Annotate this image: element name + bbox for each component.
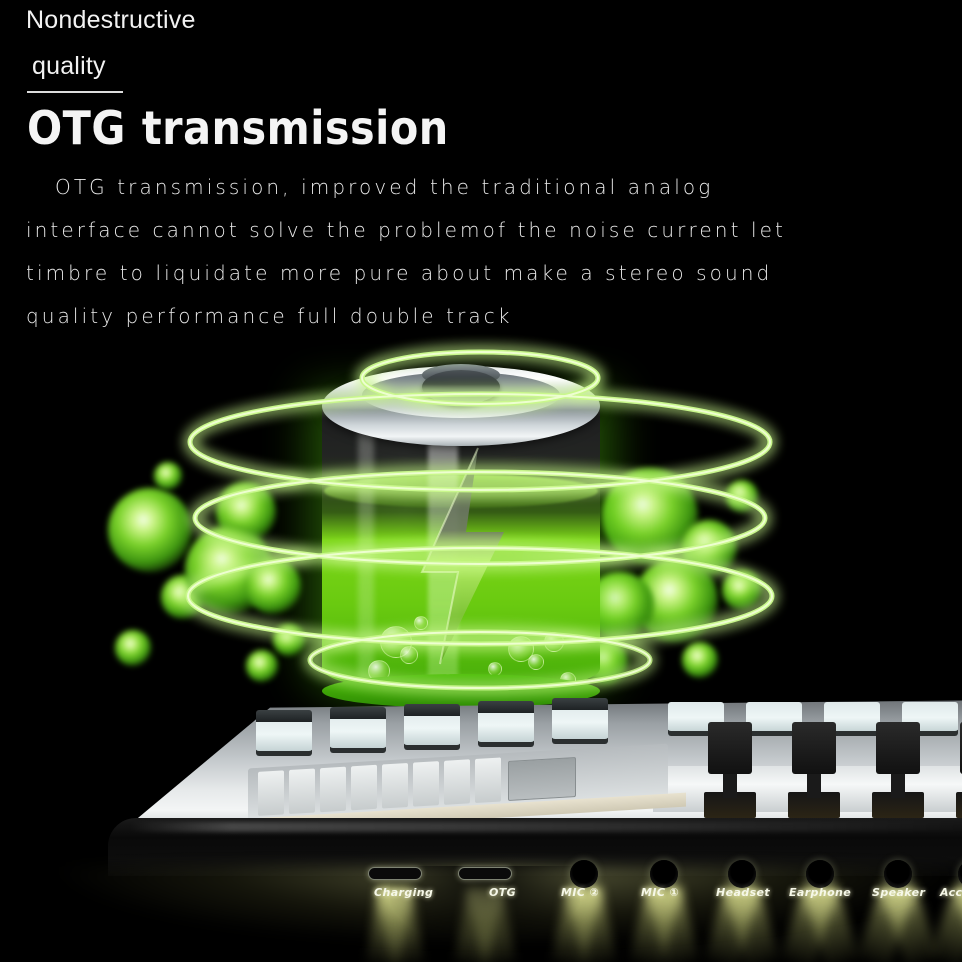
fader-knob[interactable]: [876, 722, 920, 774]
port-headset[interactable]: [728, 860, 756, 888]
fader-stem: [807, 772, 821, 798]
bokeh-dot: [245, 558, 301, 614]
device-key-cap: [330, 707, 386, 719]
device-key[interactable]: [478, 707, 534, 747]
port-label: Headset: [716, 886, 770, 899]
bokeh-dot: [681, 520, 737, 576]
port-label: Speaker: [872, 886, 925, 899]
device-slider-slot[interactable]: [258, 770, 284, 816]
bokeh-dot: [634, 558, 718, 642]
description-line-2: interface cannot solve the problemof the…: [26, 218, 786, 242]
device-key-cap: [256, 710, 312, 722]
description-line-4: quality performance full double track: [26, 304, 513, 328]
device-key-cap: [552, 698, 608, 710]
fader-base: [956, 792, 962, 818]
bokeh-dot: [161, 575, 205, 619]
promo-banner: Nondestructive quality OTGtransmission O…: [0, 0, 962, 962]
kicker-line-2: quality: [32, 52, 106, 81]
device-slider-slot[interactable]: [475, 757, 501, 803]
fader-knob[interactable]: [708, 722, 752, 774]
port-speaker[interactable]: [884, 860, 912, 888]
bokeh-dot: [246, 650, 278, 682]
battery-terminal-nub: [422, 370, 500, 404]
port-label: MIC ②: [561, 886, 599, 899]
bokeh-dot: [115, 630, 151, 666]
fader-stem: [891, 772, 905, 798]
page-title: OTGtransmission: [27, 101, 449, 155]
device-key-cap: [404, 704, 460, 716]
device-slider-slot[interactable]: [320, 767, 346, 813]
headline-word-otg: OTG: [27, 101, 126, 155]
kicker-underline: [27, 91, 123, 93]
fluid-bubble: [544, 632, 564, 652]
kicker-line-1: Nondestructive: [26, 6, 196, 35]
device-key[interactable]: [256, 716, 312, 756]
fader-knob[interactable]: [792, 722, 836, 774]
lightning-bolt-icon: [406, 446, 516, 666]
battery-charging-illustration: [296, 352, 626, 712]
device-key[interactable]: [330, 713, 386, 753]
fader-stem: [723, 772, 737, 798]
device-key[interactable]: [552, 704, 608, 744]
bokeh-dot: [722, 570, 762, 610]
device-slider-slot[interactable]: [351, 765, 377, 811]
bokeh-dot: [185, 526, 273, 614]
bokeh-dot: [682, 642, 718, 678]
port-label: Accor: [940, 886, 962, 899]
device-key[interactable]: [404, 710, 460, 750]
floor-shadow-center: [390, 866, 580, 962]
port-mic[interactable]: [650, 860, 678, 888]
description-line-3: timbre to liquidate more pure about make…: [26, 261, 772, 285]
bokeh-dot: [108, 488, 192, 572]
bokeh-dot: [216, 482, 276, 542]
port-label: MIC ①: [641, 886, 679, 899]
device-slider-slot[interactable]: [382, 763, 408, 809]
device-slider-slot[interactable]: [413, 761, 439, 807]
device-front-gloss: [128, 822, 962, 832]
port-label: Charging: [374, 886, 433, 899]
headline-word-transmission: transmission: [142, 101, 449, 155]
device-display: [508, 757, 576, 801]
port-earphone[interactable]: [806, 860, 834, 888]
port-label: Earphone: [789, 886, 851, 899]
port-mic[interactable]: [570, 860, 598, 888]
battery-highlight-stripe-secondary: [358, 408, 374, 694]
port-charging[interactable]: [368, 867, 422, 880]
bokeh-dot: [726, 480, 758, 512]
device-slider-slot[interactable]: [444, 759, 470, 805]
port-label: OTG: [489, 886, 516, 899]
live-sound-card-mixer: [108, 700, 962, 880]
port-otg[interactable]: [458, 867, 512, 880]
fluid-bubble: [528, 654, 544, 670]
device-slider-slot[interactable]: [289, 768, 315, 814]
description-line-1: OTG transmission, improved the tradition…: [55, 175, 713, 199]
device-key-cap: [478, 701, 534, 713]
bokeh-dot: [154, 462, 182, 490]
